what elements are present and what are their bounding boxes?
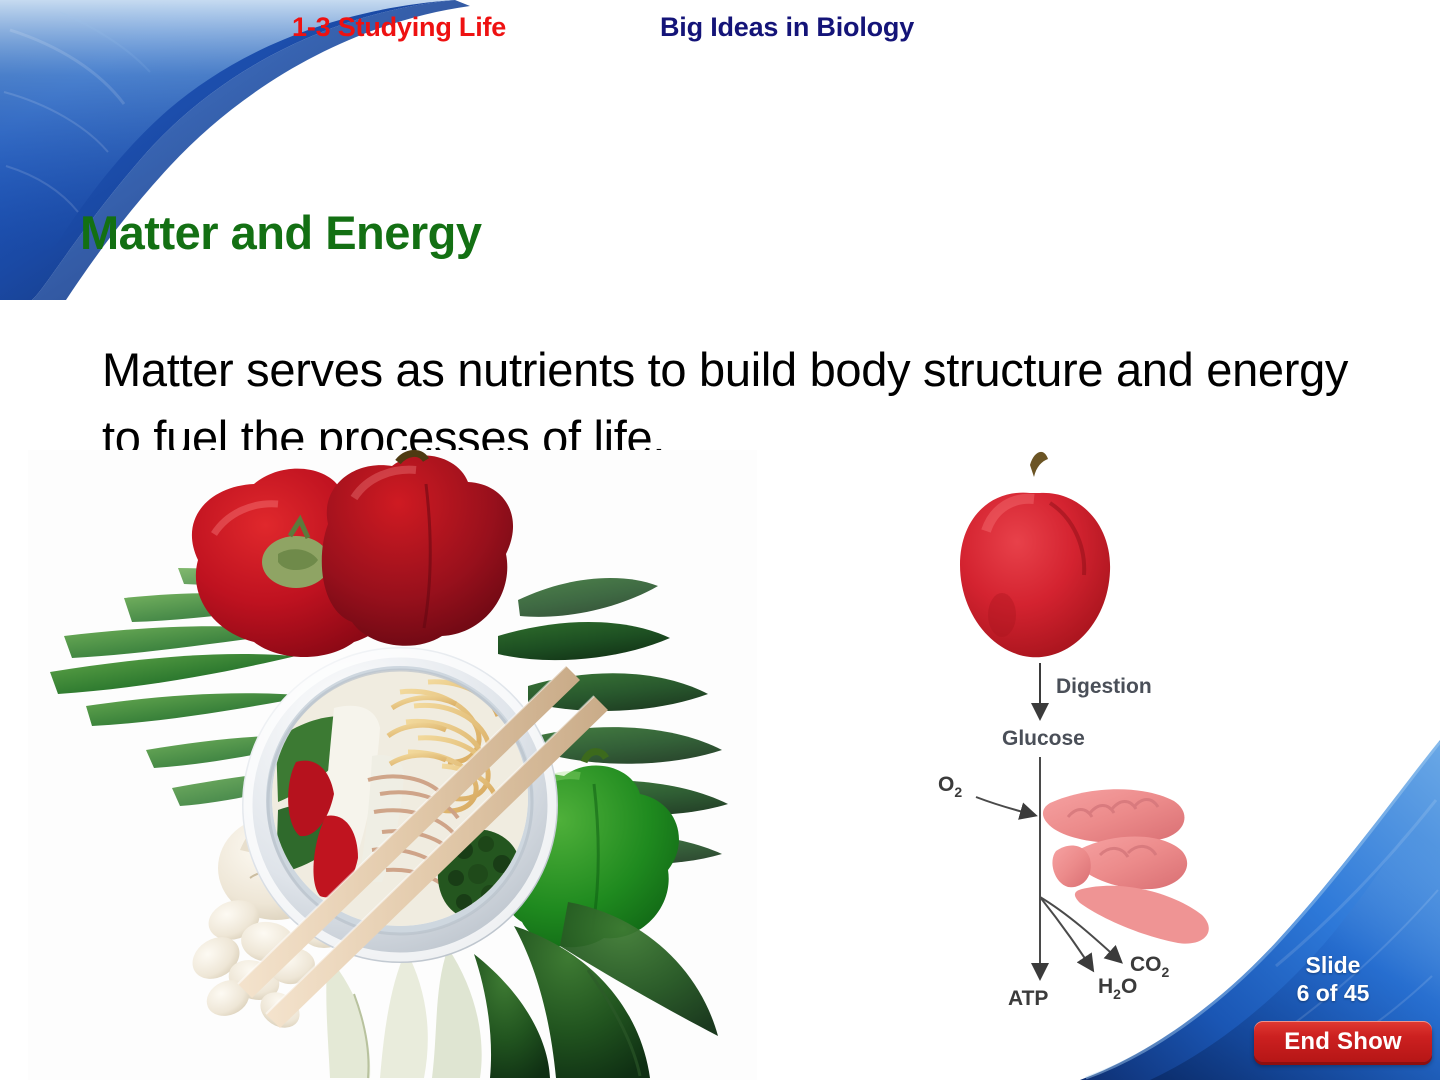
slide-counter: Slide 6 of 45 xyxy=(1253,951,1413,1007)
page-title: Matter and Energy xyxy=(80,205,482,260)
respiration-diagram-svg: Digestion Glucose O2 xyxy=(930,445,1230,1015)
noodle-bowl xyxy=(242,647,558,963)
vegetables-photo-svg xyxy=(28,450,757,1080)
vegetables-photo xyxy=(28,450,757,1080)
slide-counter-position: 6 of 45 xyxy=(1253,979,1413,1007)
slide-counter-word: Slide xyxy=(1253,951,1413,979)
header-chapter-label: 1-3 Studying Life xyxy=(292,12,506,43)
glucose-label: Glucose xyxy=(1002,727,1085,750)
digestion-label: Digestion xyxy=(1056,675,1152,698)
end-show-button[interactable]: End Show xyxy=(1254,1021,1432,1062)
slide-header: 1-3 Studying Life Big Ideas in Biology xyxy=(0,12,1440,54)
presentation-slide: 1-3 Studying Life Big Ideas in Biology M… xyxy=(0,0,1440,1080)
header-topic-label: Big Ideas in Biology xyxy=(660,12,914,43)
atp-label: ATP xyxy=(1008,987,1048,1010)
respiration-diagram: Digestion Glucose O2 xyxy=(930,445,1230,1015)
